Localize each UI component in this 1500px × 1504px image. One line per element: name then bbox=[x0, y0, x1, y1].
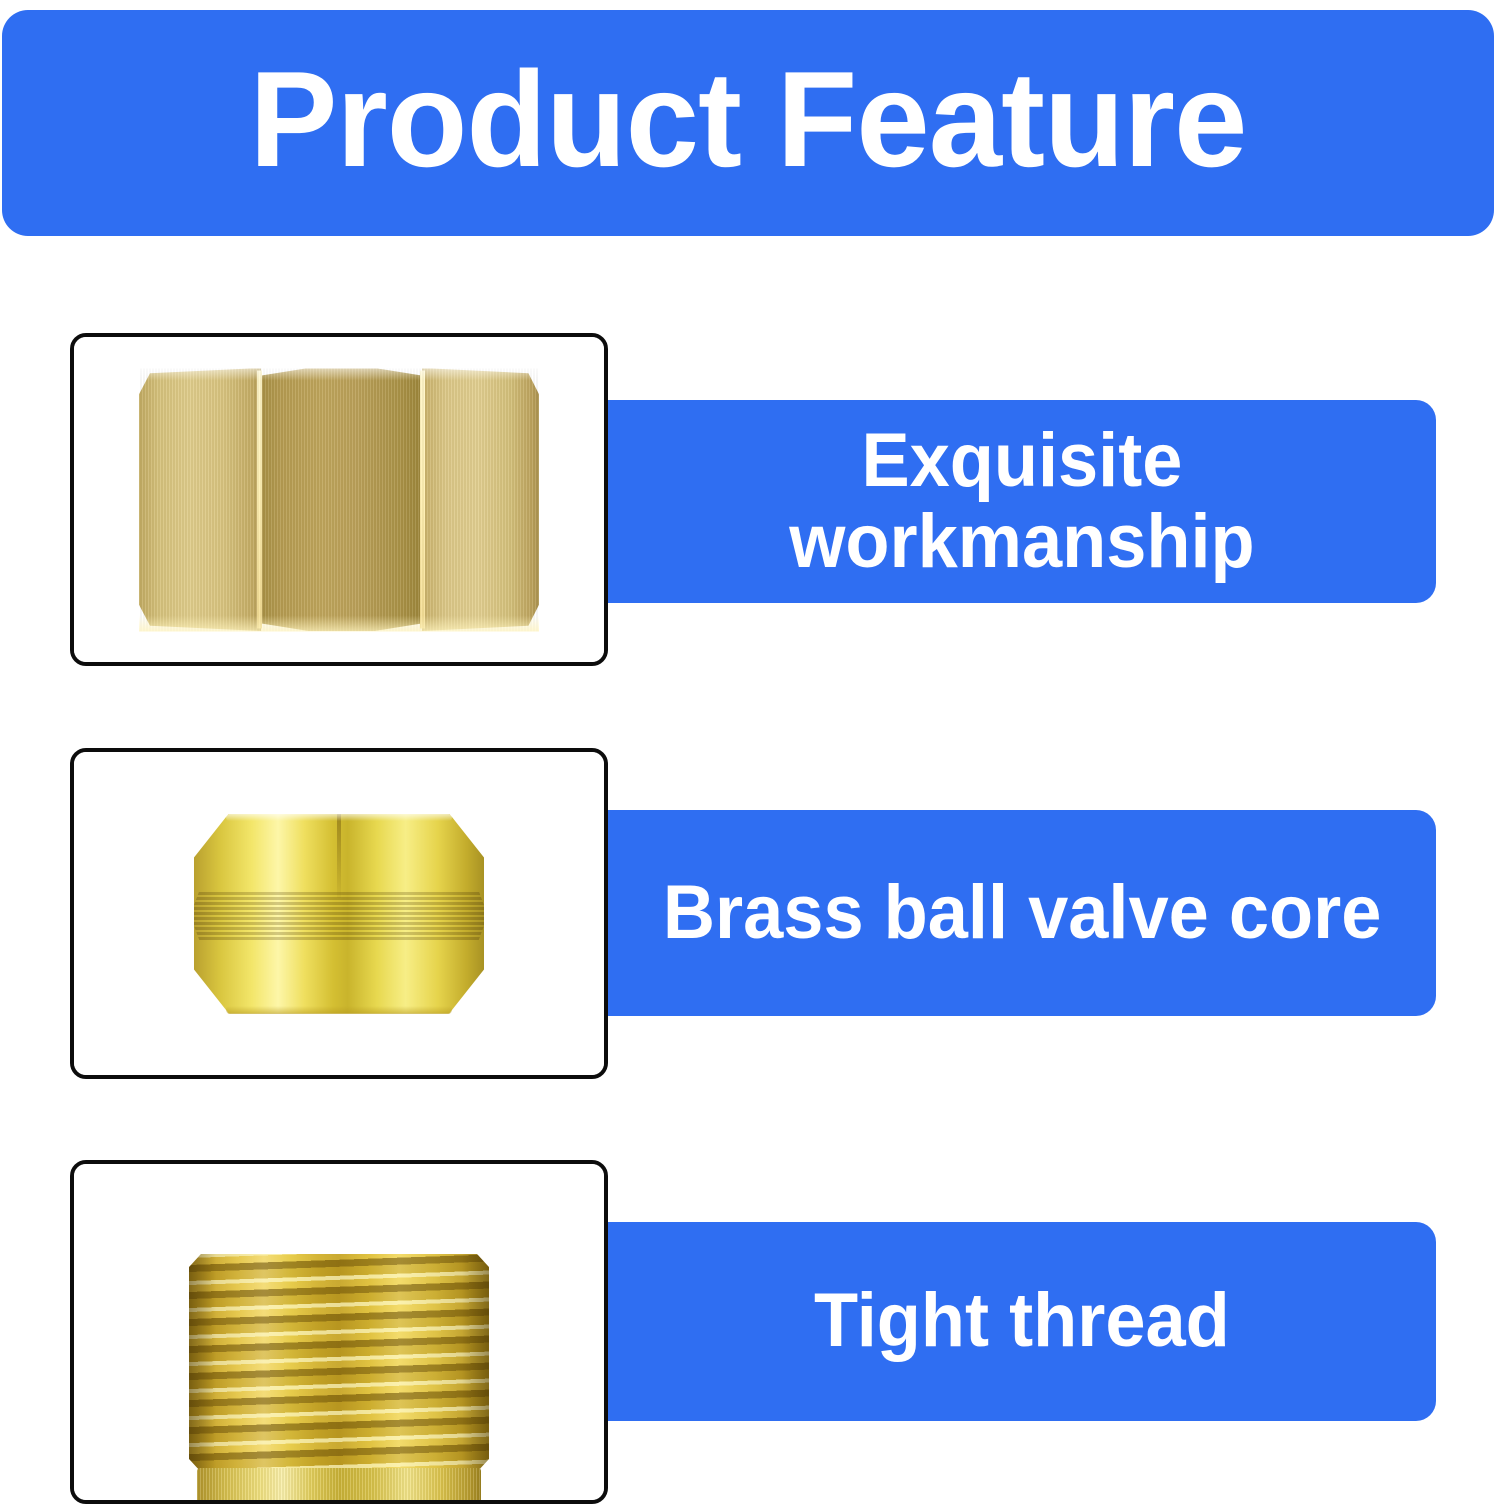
thread-edge-shading bbox=[189, 1254, 489, 1472]
thread-barrel bbox=[189, 1254, 489, 1472]
ferrule-split-line bbox=[337, 814, 341, 898]
brass-hex-nut-image bbox=[74, 337, 604, 662]
hex-facet-center bbox=[259, 368, 424, 631]
thread-ridges bbox=[189, 1254, 489, 1472]
feature-image-frame-2 bbox=[70, 748, 608, 1079]
hex-edge-highlight-left bbox=[257, 371, 262, 629]
ferrule-body-group bbox=[194, 814, 484, 1014]
brass-male-thread-image bbox=[74, 1164, 604, 1500]
feature-label-3: Tight thread bbox=[797, 1281, 1247, 1362]
thread-collar-grain bbox=[197, 1468, 481, 1504]
feature-label-1-line-2: workmanship bbox=[789, 499, 1254, 584]
feature-label-bar-3: Tight thread bbox=[608, 1222, 1436, 1421]
feature-label-1-line-1: Exquisite bbox=[861, 418, 1182, 503]
hex-nut-body bbox=[139, 368, 539, 631]
ferrule-top-highlight bbox=[226, 814, 452, 821]
hex-facet-left bbox=[139, 368, 261, 631]
threaded-stud-group bbox=[189, 1254, 489, 1504]
page-title: Product Feature bbox=[249, 51, 1246, 195]
ferrule-bottom-shadow bbox=[226, 1006, 452, 1014]
thread-collar bbox=[197, 1468, 481, 1504]
hex-edge-highlight-right bbox=[420, 371, 425, 629]
feature-image-frame-1 bbox=[70, 333, 608, 666]
feature-label-1: Exquisite workmanship bbox=[772, 421, 1272, 582]
feature-label-2: Brass ball valve core bbox=[646, 873, 1399, 954]
feature-label-bar-1: Exquisite workmanship bbox=[608, 400, 1436, 603]
product-feature-infographic: Product Feature Exquisite workmanship bbox=[0, 0, 1500, 1500]
hex-facet-right bbox=[422, 368, 539, 631]
feature-image-frame-3 bbox=[70, 1160, 608, 1504]
feature-label-bar-2: Brass ball valve core bbox=[608, 810, 1436, 1016]
header-banner: Product Feature bbox=[2, 10, 1494, 236]
brass-compression-sleeve-image bbox=[74, 752, 604, 1075]
